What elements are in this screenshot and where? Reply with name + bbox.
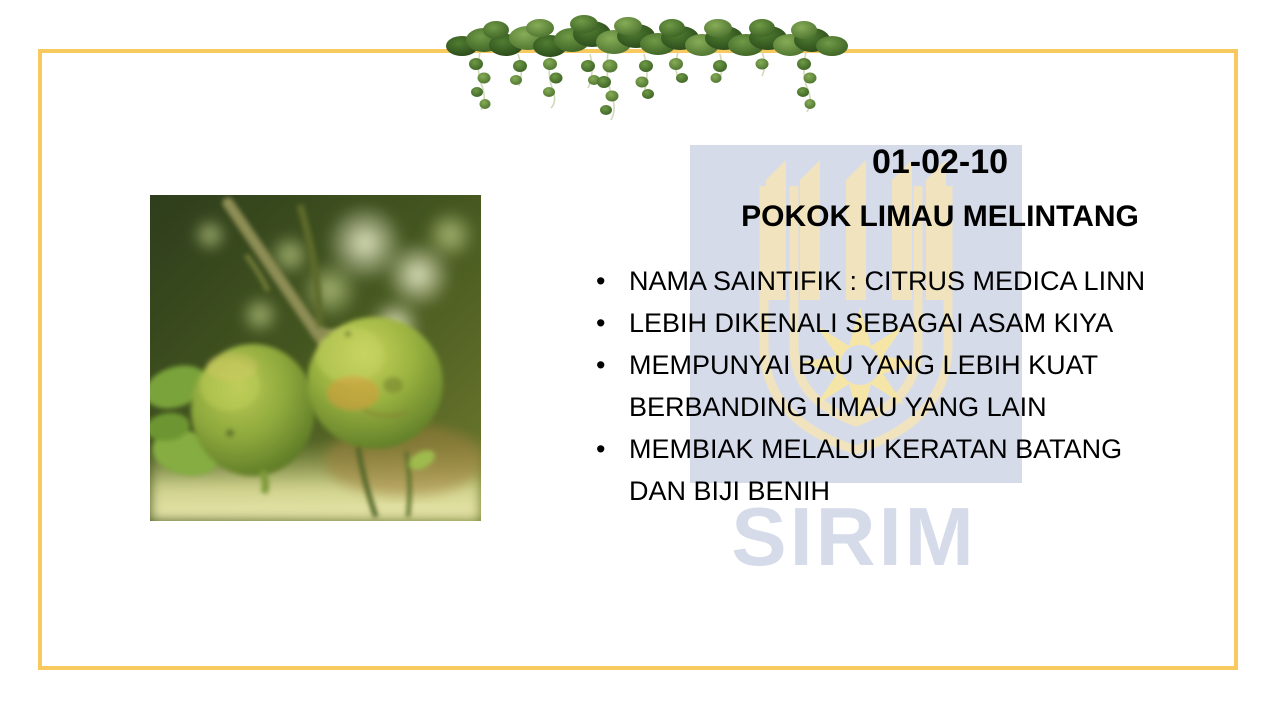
page-subtitle: POKOK LIMAU MELINTANG <box>660 196 1220 238</box>
bullet-list: NAMA SAINTIFIK : CITRUS MEDICA LINN LEBI… <box>560 260 1220 512</box>
list-item: MEMPUNYAI BAU YANG LEBIH KUAT BERBANDING… <box>560 344 1220 428</box>
citrus-photo <box>150 195 481 521</box>
list-item: NAMA SAINTIFIK : CITRUS MEDICA LINN <box>560 260 1220 302</box>
list-item: MEMBIAK MELALUI KERATAN BATANG DAN BIJI … <box>560 428 1220 512</box>
list-item: LEBIH DIKENALI SEBAGAI ASAM KIYA <box>560 302 1220 344</box>
slide: SIRIM <box>0 0 1280 720</box>
ivy-garland-icon <box>432 0 852 120</box>
page-title: 01-02-10 <box>660 140 1220 184</box>
text-content: 01-02-10 POKOK LIMAU MELINTANG NAMA SAIN… <box>560 140 1220 512</box>
